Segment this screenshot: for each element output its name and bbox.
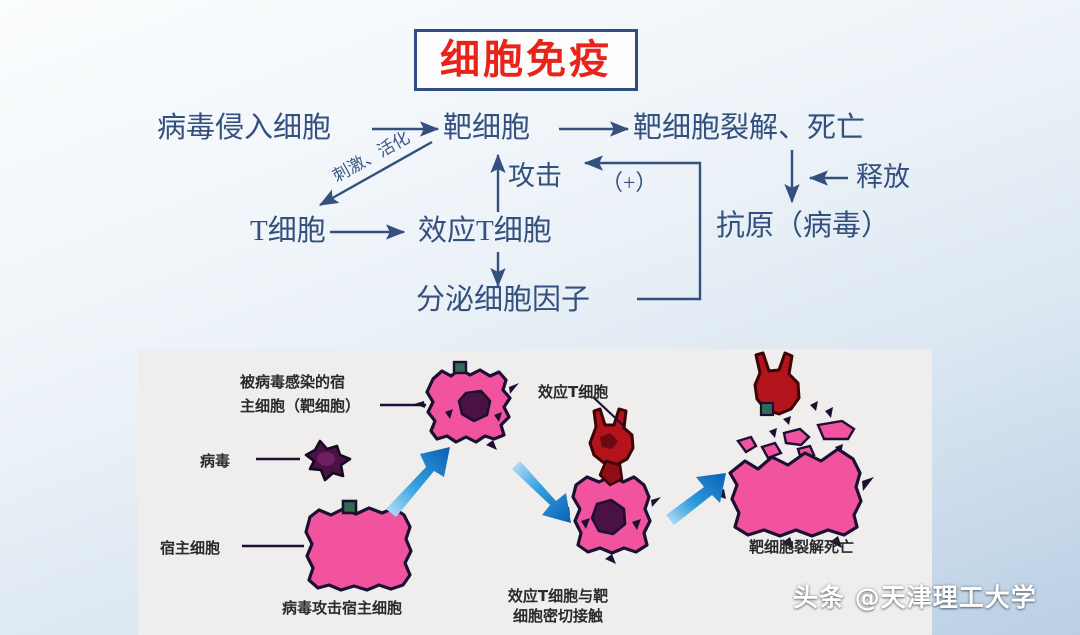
- slide-root: 细胞免疫: [0, 0, 1080, 635]
- immunity-flow-diagram: 病毒侵入细胞 靶细胞 靶细胞裂解、死亡 T细胞 效应T细胞 分泌细胞因子 抗原（…: [0, 100, 1080, 340]
- caption-close-contact-line1: 效应T细胞与靶: [508, 587, 608, 605]
- label-release: 释放: [856, 164, 910, 191]
- arrow-contact-step: [512, 461, 571, 523]
- node-target-cell: 靶细胞: [443, 114, 530, 143]
- caption-infected-host-cell-line2: 主细胞（靶细胞）: [240, 397, 360, 415]
- node-antigen-virus: 抗原（病毒）: [716, 212, 890, 241]
- node-t-cell: T细胞: [250, 217, 326, 246]
- label-plus-sign: （+）: [601, 172, 657, 194]
- arrow-lysis-step: [666, 473, 726, 525]
- caption-host-cell: 宿主细胞: [160, 539, 220, 557]
- label-attack: 攻击: [508, 163, 562, 190]
- watermark-text: 头条 @天津理工大学: [793, 578, 1037, 614]
- page-title: 细胞免疫: [440, 40, 612, 80]
- node-secrete-cytokines: 分泌细胞因子: [416, 286, 590, 315]
- effector-t-cell-contact-figure: [559, 409, 661, 564]
- node-effector-t-cell: 效应T细胞: [418, 217, 552, 246]
- caption-virus: 病毒: [200, 452, 230, 470]
- caption-infected-host-cell-line1: 被病毒感染的宿: [240, 373, 345, 391]
- node-virus-invades-cell: 病毒侵入细胞: [157, 114, 331, 143]
- slide-title-box: 细胞免疫: [414, 29, 638, 91]
- caption-virus-attacks-host-cell: 病毒攻击宿主细胞: [282, 599, 402, 617]
- virus-figure: [306, 441, 350, 480]
- arrow-infection-step: [386, 447, 450, 517]
- caption-close-contact-line2: 细胞密切接触: [513, 607, 603, 625]
- caption-effector-t-cell: 效应T细胞: [538, 383, 608, 401]
- caption-target-cell-lysis-death: 靶细胞裂解死亡: [749, 538, 854, 556]
- lysed-target-cell-figure: [712, 353, 874, 549]
- blue-process-arrows: [386, 447, 726, 525]
- node-target-cell-lysis-death: 靶细胞裂解、死亡: [633, 114, 865, 143]
- infected-target-cell-figure: [414, 362, 519, 450]
